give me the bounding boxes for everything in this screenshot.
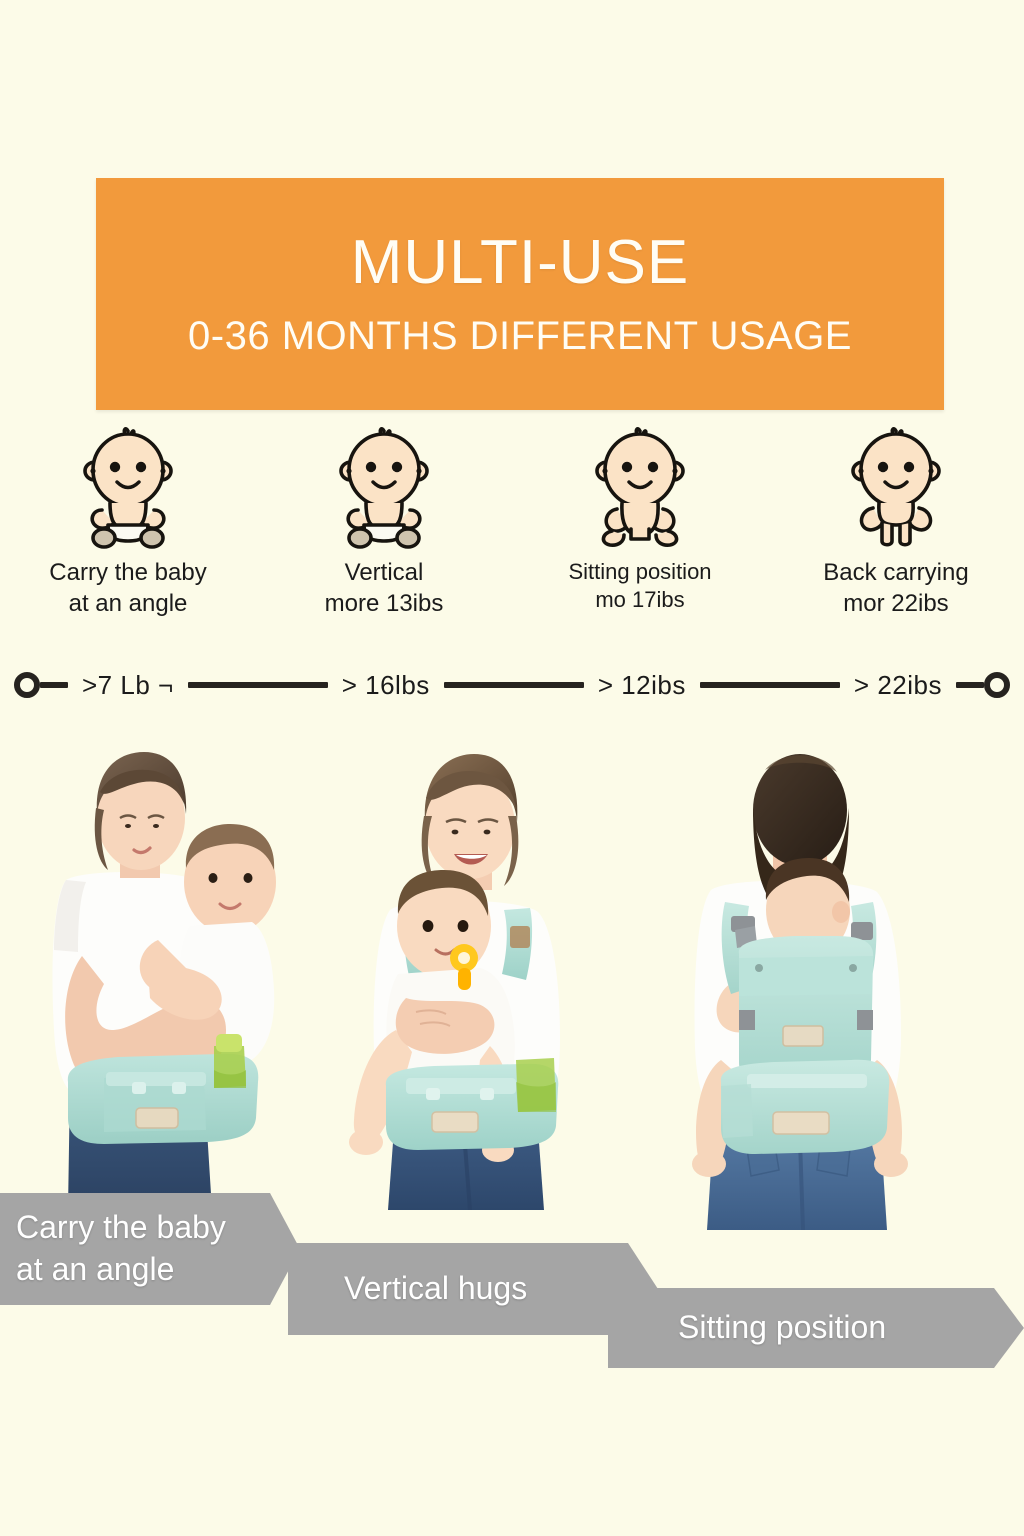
photo-vertical-hug xyxy=(340,730,620,1210)
timeline-label-3: > 12ibs xyxy=(584,670,700,701)
usage-item-label: Carry the baby at an angle xyxy=(49,558,206,619)
usage-item-label: Sitting position mo 17ibs xyxy=(568,558,711,614)
usage-item-label: Back carrying mor 22ibs xyxy=(823,558,968,619)
ribbon-label: Sitting position xyxy=(678,1307,886,1349)
timeline-segment xyxy=(956,682,984,688)
circle-endpoint-icon xyxy=(14,672,40,698)
circle-endpoint-icon xyxy=(984,672,1010,698)
timeline-segment xyxy=(188,682,328,688)
baby-standing-icon xyxy=(840,425,952,550)
usage-item-back-carrying: Back carrying mor 22ibs xyxy=(768,425,1024,640)
header-banner: MULTI-USE 0-36 MONTHS DIFFERENT USAGE xyxy=(96,178,944,410)
timeline-label-2: > 16lbs xyxy=(328,670,444,701)
photo-back-carry xyxy=(655,730,955,1230)
usage-item-sitting-position: Sitting position mo 17ibs xyxy=(512,425,768,640)
photo-carry-at-angle xyxy=(8,730,318,1210)
baby-sitting-spread-legs-icon xyxy=(584,425,696,550)
baby-sitting-diaper-icon xyxy=(328,425,440,550)
usage-item-vertical: Vertical more 13ibs xyxy=(256,425,512,640)
ribbon-carry-at-angle: Carry the baby at an angle xyxy=(0,1193,316,1305)
weight-timeline: >7 Lb ¬ > 16lbs > 12ibs > 22ibs xyxy=(0,655,1024,715)
usage-item-carry-at-angle: Carry the baby at an angle xyxy=(0,425,256,640)
timeline-label-1: >7 Lb ¬ xyxy=(68,670,188,701)
photo-strip xyxy=(0,730,1024,1230)
timeline-segment xyxy=(40,682,68,688)
timeline-segment xyxy=(444,682,584,688)
infographic-page: MULTI-USE 0-36 MONTHS DIFFERENT USAGE xyxy=(0,0,1024,1536)
page-title: MULTI-USE xyxy=(351,232,690,294)
page-subtitle: 0-36 MONTHS DIFFERENT USAGE xyxy=(188,316,852,356)
ribbon-label: Vertical hugs xyxy=(344,1268,527,1310)
timeline-segment xyxy=(700,682,840,688)
ribbon-label: Carry the baby at an angle xyxy=(16,1207,226,1290)
usage-item-label: Vertical more 13ibs xyxy=(325,558,444,619)
ribbon-sitting-position: Sitting position xyxy=(608,1288,1024,1368)
timeline-label-4: > 22ibs xyxy=(840,670,956,701)
baby-sitting-diaper-icon xyxy=(72,425,184,550)
usage-icon-row: Carry the baby at an angle xyxy=(0,425,1024,640)
